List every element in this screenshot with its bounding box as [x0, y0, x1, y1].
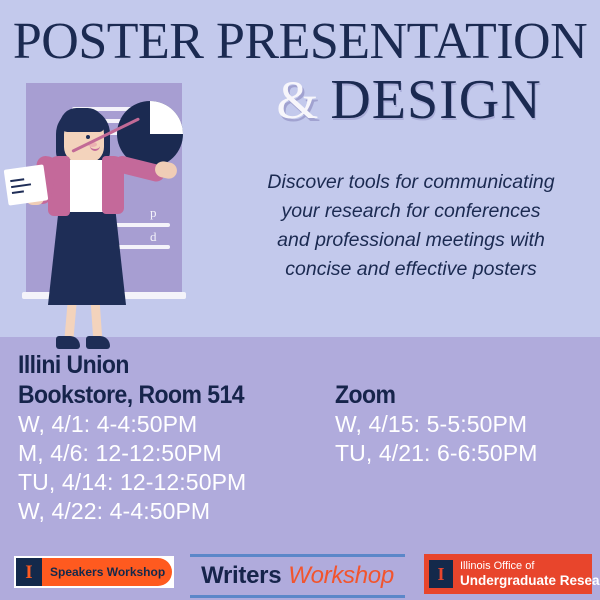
figure-paper-handout — [4, 164, 49, 205]
schedule-section: Illini Union Bookstore, Room 514 W, 4/1:… — [0, 350, 600, 545]
speakers-workshop-logo-inner: I Speakers Workshop — [16, 558, 172, 586]
figure-skirt — [48, 207, 126, 305]
venue-line-2: Bookstore, Room 514 — [18, 380, 312, 410]
undergraduate-research-text: Illinois Office of Undergraduate Researc… — [460, 560, 600, 588]
zoom-venue-label: Zoom — [335, 380, 579, 410]
speakers-workshop-label: Speakers Workshop — [50, 565, 165, 579]
paper-line-2 — [11, 183, 31, 188]
session-item: W, 4/22: 4-4:50PM — [18, 497, 338, 526]
presenter-illustration: p d — [0, 70, 230, 340]
description-line-2: your research for conferences — [228, 197, 594, 226]
block-i-glyph: I — [437, 565, 444, 583]
speakers-workshop-logo: I Speakers Workshop — [14, 556, 174, 588]
poster-title-design-word: DESIGN — [330, 69, 541, 131]
figure-hair-front — [60, 108, 104, 132]
undergraduate-research-line1: Illinois Office of — [460, 560, 600, 573]
block-i-glyph: I — [25, 563, 32, 582]
schedule-column-in-person: Illini Union Bookstore, Room 514 W, 4/1:… — [18, 350, 338, 526]
session-item: TU, 4/21: 6-6:50PM — [335, 439, 600, 468]
figure-eye — [86, 135, 90, 139]
session-item: TU, 4/14: 12-12:50PM — [18, 468, 338, 497]
poster-title-line1: POSTER PRESENTATION — [0, 16, 600, 68]
paper-line-3 — [12, 190, 24, 194]
schedule-column-zoom: Zoom W, 4/15: 5-5:50PM TU, 4/21: 6-6:50P… — [335, 380, 600, 468]
board-glyph-d: d — [150, 229, 157, 245]
session-item: W, 4/1: 4-4:50PM — [18, 410, 338, 439]
poster-description: Discover tools for communicating your re… — [228, 168, 594, 284]
description-line-1: Discover tools for communicating — [228, 168, 594, 197]
footer-logo-bar: I Speakers Workshop Writers Workshop I I… — [0, 548, 600, 600]
ampersand-glyph: & — [276, 70, 318, 130]
description-line-3: and professional meetings with — [228, 226, 594, 255]
writers-workshop-word2: Workshop — [288, 562, 394, 590]
poster-canvas: POSTER PRESENTATION &DESIGN Discover too… — [0, 0, 600, 600]
figure-shoe-right — [86, 336, 110, 349]
board-glyph-p: p — [150, 205, 157, 221]
venue-line-1: Illini Union — [18, 350, 312, 380]
session-item: W, 4/15: 5-5:50PM — [335, 410, 600, 439]
undergraduate-research-line2: Undergraduate Research — [460, 573, 600, 589]
figure-shoe-left — [56, 336, 80, 349]
undergraduate-research-logo: I Illinois Office of Undergraduate Resea… — [424, 554, 592, 594]
illinois-block-i-icon: I — [16, 558, 42, 586]
paper-line-1 — [10, 178, 24, 182]
writers-workshop-logo: Writers Workshop — [190, 554, 405, 598]
illinois-block-i-icon: I — [429, 560, 453, 588]
session-item: M, 4/6: 12-12:50PM — [18, 439, 338, 468]
writers-workshop-word1: Writers — [201, 562, 281, 590]
description-line-4: concise and effective posters — [228, 255, 594, 284]
poster-title-line2: &DESIGN — [218, 72, 600, 128]
